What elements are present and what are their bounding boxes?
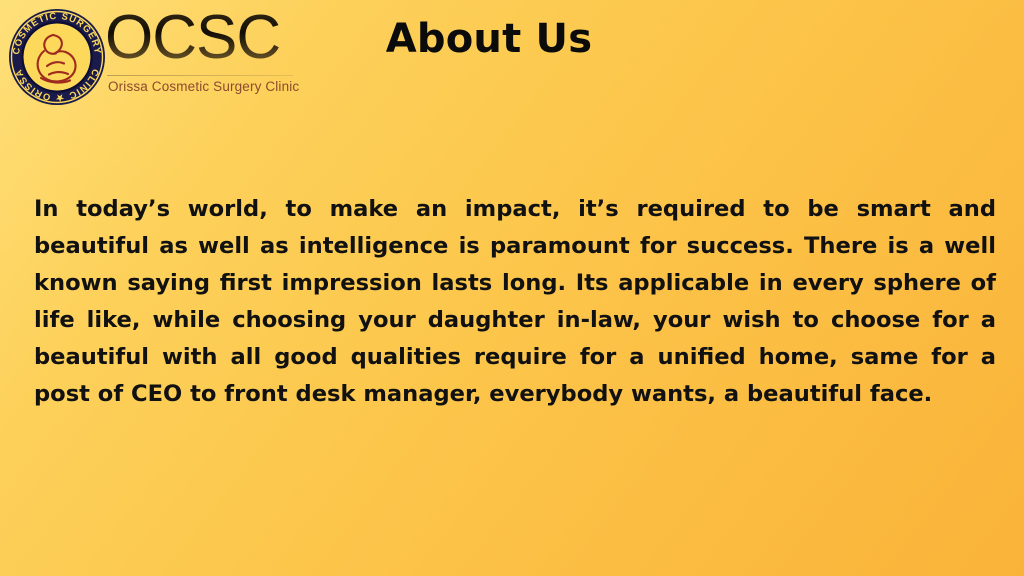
logo-divider [107, 75, 293, 76]
logo-tagline: Orissa Cosmetic Surgery Clinic [108, 79, 299, 94]
about-us-paragraph: In today’s world, to make an impact, it’… [34, 191, 996, 413]
page-title: About Us [0, 16, 978, 62]
slide-canvas: COSMETIC SURGERY CLINIC ★ ORISSA [0, 0, 1024, 576]
